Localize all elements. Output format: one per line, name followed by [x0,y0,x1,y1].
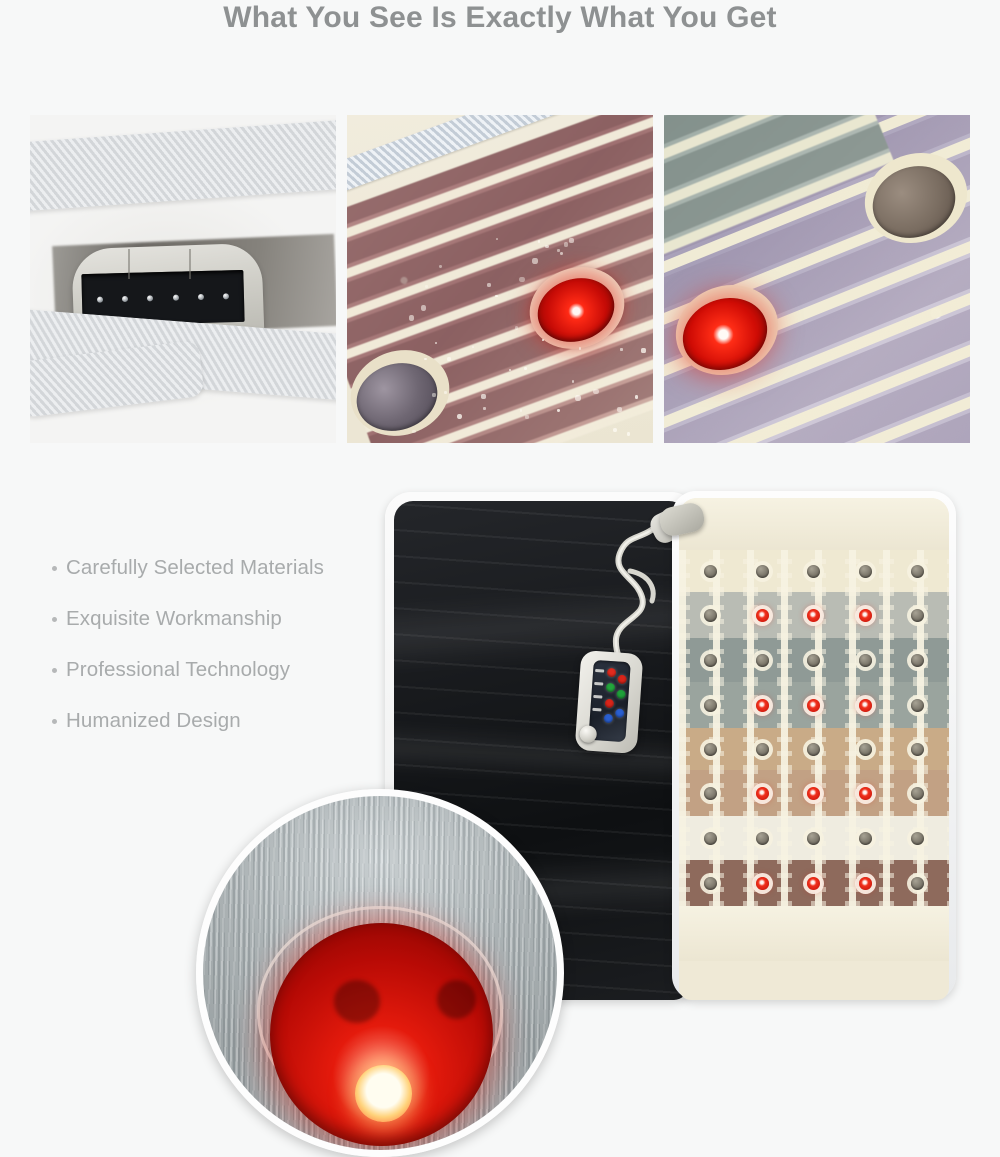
stone-speck [579,347,581,349]
stone-speck [439,265,442,268]
red-led-icon [807,787,820,800]
amethyst-led-photo [664,115,970,443]
stone-speck [481,394,486,399]
high-button[interactable] [615,708,625,718]
red-led-icon [859,877,872,890]
stone-speck [641,348,646,353]
connector-port-photo [30,115,336,443]
jade-disc [807,654,820,667]
jade-disc [859,832,872,845]
jade-disc [756,832,769,845]
jade-disc [807,565,820,578]
button-label-2 [594,682,603,686]
stone-speck [538,240,541,243]
red-stone-led-photo [347,115,653,443]
stone-band-2 [679,592,949,638]
list-item: Humanized Design [52,709,382,733]
stone-band-0 [679,498,949,550]
stone-speck [495,295,497,297]
jade-disc [704,654,717,667]
jade-disc [756,565,769,578]
bullet-icon [52,719,57,724]
list-item: Professional Technology [52,658,382,682]
stone-speck [620,348,622,350]
jade-disc [704,609,717,622]
jade-disc [911,832,924,845]
list-item: Exquisite Workmanship [52,607,382,631]
red-led-icon [859,699,872,712]
red-led-icon [756,787,769,800]
stone-speck [447,357,451,361]
jade-disc [911,743,924,756]
feature-list: Carefully Selected Materials Exquisite W… [52,556,382,760]
mode-button[interactable] [606,683,616,693]
stone-speck [519,277,525,283]
page-title: What You See Is Exactly What You Get [0,0,1000,46]
jade-disc [704,832,717,845]
jade-disc [807,743,820,756]
jade-disc [859,565,872,578]
red-led-icon [756,609,769,622]
jade-disc [704,699,717,712]
feature-label: Humanized Design [66,709,241,733]
jade-disc [859,654,872,667]
stone-speck [432,393,436,397]
stone-band-1 [679,550,949,592]
red-led-icon [807,699,820,712]
jade-disc [756,654,769,667]
stone-speck [557,409,560,412]
bullet-icon [52,668,57,673]
stone-speck [483,407,485,409]
dome-shadow-left [334,980,380,1022]
feature-label: Exquisite Workmanship [66,607,282,631]
power-button[interactable] [607,668,617,678]
pin-5 [198,295,204,301]
stone-speck [564,242,568,246]
housing-seam-right [189,249,191,279]
red-led-icon [859,787,872,800]
pin-4 [173,295,179,301]
jade-disc [911,565,924,578]
red-led-icon [756,699,769,712]
stone-speck [525,415,528,418]
red-led-icon [807,877,820,890]
feature-label: Carefully Selected Materials [66,556,324,580]
stone-speck [572,380,575,383]
list-item: Carefully Selected Materials [52,556,382,580]
jade-disc [911,877,924,890]
stone-speck [421,305,427,311]
stone-speck [444,391,447,394]
jade-disc [859,743,872,756]
stone-speck [409,315,414,320]
heat-button[interactable] [605,699,615,709]
jade-disc [911,609,924,622]
housing-seam-left [128,249,130,279]
jade-disc [704,743,717,756]
led-lens-glow [355,1065,412,1122]
mat-sheen-2 [394,721,688,790]
stone-speck [515,326,519,330]
hand-controller[interactable] [575,650,644,754]
stone-band-5 [679,728,949,770]
temperature-dial[interactable] [579,725,597,743]
red-led-icon [756,877,769,890]
bullet-icon [52,617,57,622]
red-led-icon [859,609,872,622]
stone-band-4 [679,682,949,728]
stone-band-7 [679,816,949,860]
stone-speck [425,285,428,288]
gemstone-mat [672,491,956,1000]
stone-band-3 [679,638,949,682]
pin-1 [97,297,103,303]
jade-disc [704,565,717,578]
photo-strip [30,115,970,443]
mat-sheen-1 [394,578,688,673]
jade-disc [911,787,924,800]
jade-disc [911,699,924,712]
button-label-3 [593,695,602,699]
jade-disc [756,743,769,756]
stone-speck [569,238,574,243]
pin-3 [147,296,153,302]
jade-disc [704,877,717,890]
stone-speck [532,258,538,264]
pin-2 [122,297,128,303]
stone-speck [435,342,437,344]
red-led-icon [807,609,820,622]
stone-band-9 [679,906,949,961]
jade-disc [704,787,717,800]
led-macro-inset [196,789,564,1157]
temp-up-button[interactable] [617,675,627,685]
stone-speck [575,395,581,401]
pin-6 [223,294,229,300]
button-label-1 [595,669,604,673]
timer-button[interactable] [616,690,626,700]
stone-band-8 [679,860,949,906]
stone-speck [617,407,622,412]
stone-speck [627,432,630,435]
bullet-icon [52,566,57,571]
jade-disc [911,654,924,667]
stone-band-6 [679,770,949,816]
stone-speck [542,339,544,341]
stone-speck [635,395,639,399]
button-label-4 [592,708,601,712]
feature-label: Professional Technology [66,658,290,682]
gemstone-mat-surface [679,498,949,1000]
stone-speck [560,252,563,255]
jade-disc [807,832,820,845]
low-button[interactable] [604,714,614,724]
